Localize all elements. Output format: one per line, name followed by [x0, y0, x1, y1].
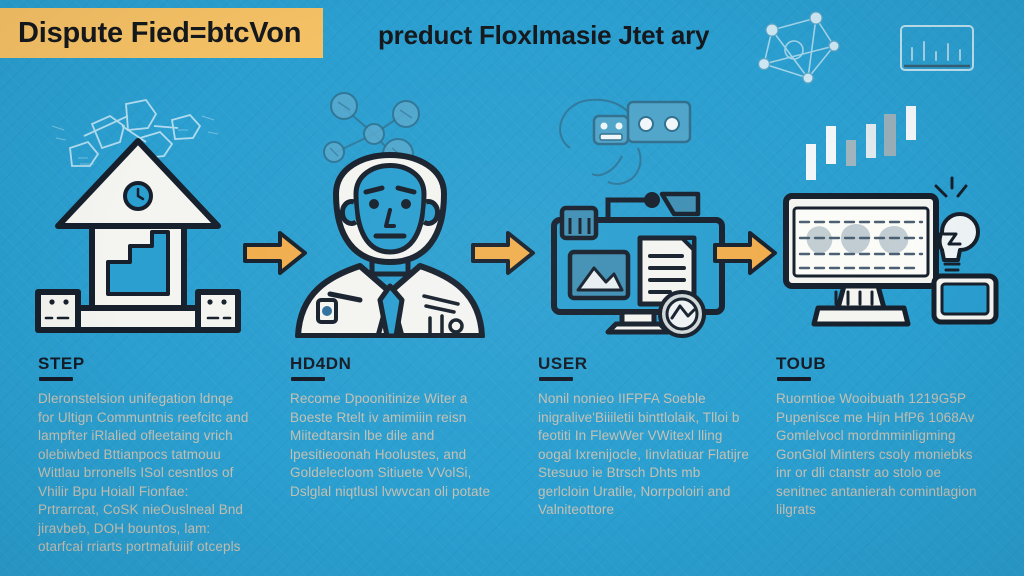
column-heading-2: HD4DN [290, 354, 505, 374]
column-heading-4: TOUB [776, 354, 991, 374]
icon-stage-1 [22, 86, 254, 338]
icon-stage-4 [766, 86, 998, 338]
arrow-step-1-to-2 [242, 228, 308, 278]
doctor-person-icon [274, 86, 506, 338]
caption-2: HD4DN Recome Dpoonitinize Witer a Boeste… [290, 354, 505, 501]
column-heading-3: USER [538, 354, 753, 374]
caption-1: STEP Dleronstelsion unifegation ldnqe fo… [38, 354, 253, 557]
step-column-1: STEP Dleronstelsion unifegation ldnqe fo… [22, 86, 254, 566]
heading-rule-3 [539, 377, 573, 381]
infographic-canvas: Dispute Fied=btcVon preduct Floxlmasie J… [0, 0, 1024, 576]
page-title: Dispute Fied=btcVon [18, 17, 301, 50]
icon-stage-2 [274, 86, 506, 338]
bank-building-icon [22, 86, 254, 338]
page-subtitle: preduct Floxlmasie Jtet ary [378, 10, 709, 60]
column-body-1: Dleronstelsion unifegation ldnqe for Ult… [38, 390, 253, 557]
column-body-4: Ruorntioe Wooibuath 1219G5P Pupenisce me… [776, 390, 991, 520]
step-column-4: TOUB Ruorntioe Wooibuath 1219G5P Pupenis… [766, 86, 998, 566]
desktop-analytics-icon [766, 86, 1016, 338]
arrow-step-2-to-3 [470, 228, 536, 278]
heading-rule-1 [39, 377, 73, 381]
step-column-3: USER Nonil nonieo IIFPFA Soeble inigrali… [522, 86, 754, 566]
icon-stage-3 [522, 86, 754, 338]
caption-3: USER Nonil nonieo IIFPFA Soeble inigrali… [538, 354, 753, 520]
arrow-step-3-to-4 [712, 228, 778, 278]
heading-rule-2 [291, 377, 325, 381]
column-heading-1: STEP [38, 354, 253, 374]
caption-4: TOUB Ruorntioe Wooibuath 1219G5P Pupenis… [776, 354, 991, 520]
column-body-2: Recome Dpoonitinize Witer a Boeste Rtelt… [290, 390, 505, 501]
column-body-3: Nonil nonieo IIFPFA Soeble inigralive'Bi… [538, 390, 753, 520]
heading-rule-4 [777, 377, 811, 381]
header: Dispute Fied=btcVon preduct Floxlmasie J… [0, 8, 1024, 60]
server-document-icon [522, 86, 754, 338]
title-highlight-banner: Dispute Fied=btcVon [0, 8, 323, 58]
step-column-2: HD4DN Recome Dpoonitinize Witer a Boeste… [274, 86, 506, 566]
